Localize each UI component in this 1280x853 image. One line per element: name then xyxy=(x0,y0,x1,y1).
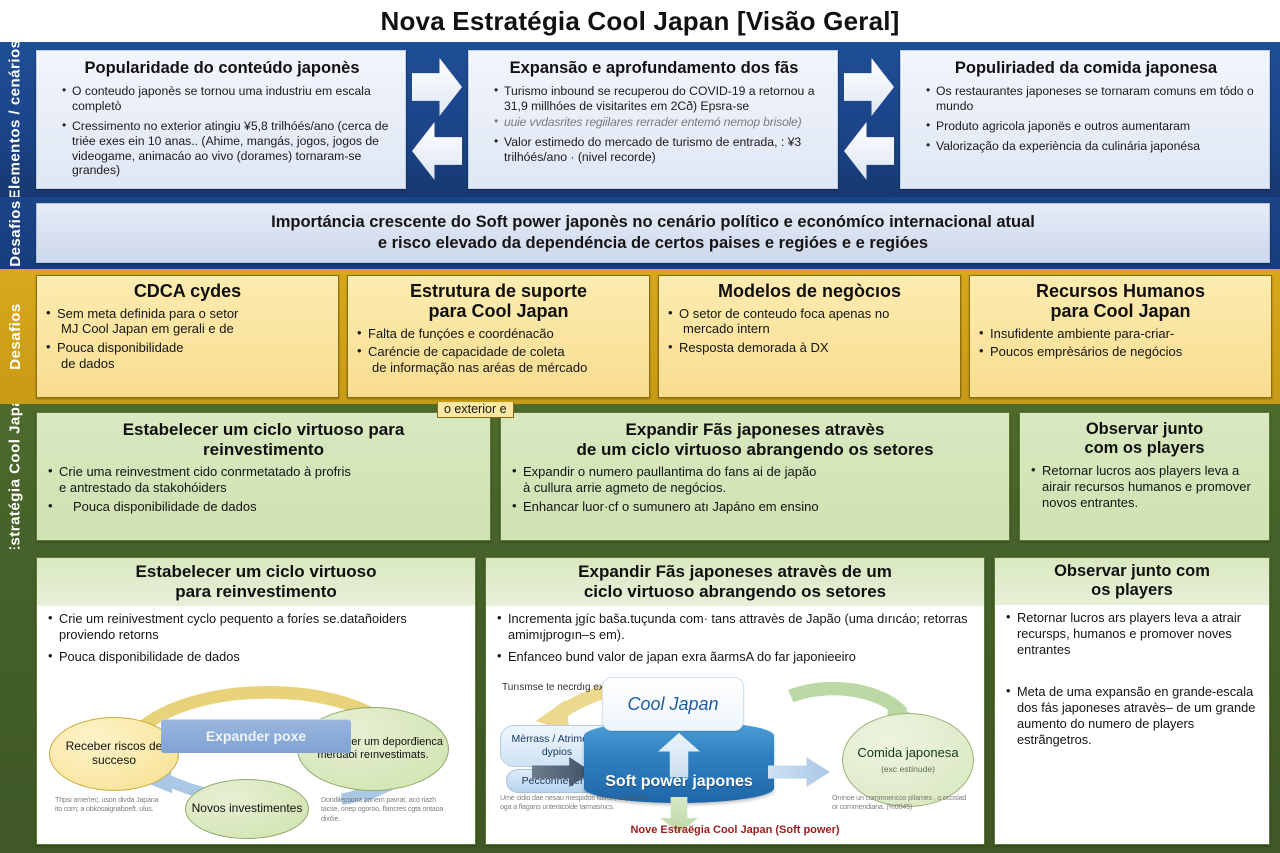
micro-note-right: Onınoe un commnencos pílames , o ocoslad… xyxy=(832,793,972,812)
list-item: Valor estimedo do mercado de turismo de … xyxy=(495,135,827,165)
panel-heading: Expandir Fãs japoneses atravès de um cic… xyxy=(486,558,984,606)
list-item: Resposta demorada à DX xyxy=(667,340,952,356)
list-item: Crie uma reinvestment cido conrmetatado … xyxy=(47,464,480,496)
cycle-node-left: Receber riscos de succeso xyxy=(49,717,179,791)
micro-note-left: Umė cidio dae nesau mespidos flavon, oap… xyxy=(500,793,650,812)
card-fan-expansion[interactable]: Expansão e aprofundamento dos fãs Turism… xyxy=(468,50,838,189)
card-observe-players[interactable]: Observar junto com os players Retornar l… xyxy=(1019,412,1270,541)
card-heading: Recursos Humanos para Cool Japan xyxy=(978,282,1263,322)
card-virtuous-cycle[interactable]: Estabelecer um ciclo virtuoso para reinv… xyxy=(36,412,491,541)
list-item: Caréncie de capacidade de coleta de info… xyxy=(356,344,641,375)
card-bullet-list: Falta de funçóes e coordénacão Caréncie … xyxy=(356,326,641,376)
page-title: Nova Estratégia Cool Japan [Visão Geral] xyxy=(380,6,899,37)
card-human-resources[interactable]: Recursos Humanos para Cool Japan Insufid… xyxy=(969,275,1272,398)
panel-heading-line-1: Observar junto com xyxy=(1054,562,1210,580)
spine-text-strategy: Reinvestir/Estratégia Cool Japan Strateg… xyxy=(7,404,24,549)
card-bullet-list: Expandir o numero paullantima do fans ai… xyxy=(511,464,999,515)
panel-heading-line-1: Estabelecer um ciclo virtuoso xyxy=(136,562,377,581)
micro-note-left: Thpsi ame/rec, uson divda Japana ito com… xyxy=(55,795,165,814)
diagram-soft-power: Turısmse te necrdıg extenno Mèrrass / At… xyxy=(492,673,978,838)
card-heading-line-2: reinvestimento xyxy=(203,440,324,459)
title-bar: Nova Estratégia Cool Japan [Visão Geral] xyxy=(0,0,1280,42)
list-item: Retornar lucros ars players leva a atrai… xyxy=(1005,610,1259,658)
card-bullet-list: Insufidente ambiente para-criar- Poucos … xyxy=(978,326,1263,360)
panel-observe-players[interactable]: Observar junto com os players Retornar l… xyxy=(994,557,1270,845)
list-item: Enhancar luor·cf o sumunero atı Japáno e… xyxy=(511,499,999,515)
diagram-reinvestment-cycle: Receber riscos de succeso Estabelecer um… xyxy=(43,673,469,838)
panel-body: Crie um reinivestment cyclo pequento a f… xyxy=(37,606,475,671)
list-item: Turismo inbound se recuperou do COVID-19… xyxy=(495,84,827,114)
panel-heading: Estabelecer um ciclo virtuoso para reinv… xyxy=(37,558,475,606)
card-heading: Estrutura de suporte para Cool Japan xyxy=(356,282,641,322)
statement-box: Importáncia crescente do Soft power japo… xyxy=(36,203,1270,263)
card-bullet-list: Turismo inbound se recuperou do COVID-19… xyxy=(481,84,827,164)
list-item-cont: de informação nas aréas de mércado xyxy=(368,360,641,376)
card-heading-line-2: de um ciclo virtuoso abrangendo os setor… xyxy=(576,440,933,459)
list-item: Insufidente ambiente para-criar- xyxy=(978,326,1263,342)
list-item: Meta de uma expansão en grande-escala do… xyxy=(1005,684,1259,748)
spine-label-strategy: Reinvestir/Estratégia Cool Japan Strateg… xyxy=(0,404,30,549)
card-bullet-list: O conteudo japonès se tornou uma industr… xyxy=(49,84,395,178)
list-item: O setor de conteudo foca apenas no merca… xyxy=(667,306,952,337)
band-elements: Elementos / cenários Popularidade do con… xyxy=(0,42,1280,197)
card-expand-fans[interactable]: Expandir Fãs japoneses atravès de um cic… xyxy=(500,412,1010,541)
list-item: Crie um reinivestment cyclo pequento a f… xyxy=(47,611,465,643)
list-item: Produto agricola japonës e outros aument… xyxy=(927,119,1259,134)
panel-body: Retornar lucros ars players leva a atrai… xyxy=(995,605,1269,754)
spine-label-challenges-top: Desafios xyxy=(0,197,30,269)
list-item: O conteudo japonès se tornou uma industr… xyxy=(63,84,395,114)
cycle-ribbon-label: Expander poxe xyxy=(161,719,351,753)
card-heading-line-1: Estabelecer um ciclo virtuoso para xyxy=(123,420,405,439)
card-heading: Modelos de negòcıos xyxy=(667,282,952,302)
card-heading-line-2: com os players xyxy=(1084,439,1204,457)
card-heading-line-2: para Cool Japan xyxy=(1050,301,1190,321)
slide-root: Nova Estratégia Cool Japan [Visão Geral]… xyxy=(0,0,1280,853)
list-item-blurred: uuie vvdasrites regiilares rerrader ente… xyxy=(495,115,827,130)
panel-virtuous-cycle[interactable]: Estabelecer um ciclo virtuoso para reinv… xyxy=(36,557,476,845)
statement-line-1: Importáncia crescente do Soft power japo… xyxy=(271,212,1035,233)
list-item: Sem meta definida para o setor MJ Cool J… xyxy=(45,306,330,337)
diagram-caption: Nove Estraëgia Cool Japan (Soft power) xyxy=(492,824,978,836)
card-support-structure[interactable]: Estrutura de suporte para Cool Japan Fal… xyxy=(347,275,650,398)
panel-bullet-list: Crie um reinivestment cyclo pequento a f… xyxy=(47,611,465,665)
list-item-text: Caréncie de capacidade de coleta xyxy=(368,344,565,359)
arrow-group-2 xyxy=(838,50,900,189)
band-strategy: Reinvestir/Estratégia Cool Japan Strateg… xyxy=(0,404,1280,549)
card-bullet-list: Crie uma reinvestment cido conrmetatado … xyxy=(47,464,480,515)
card-heading: Estabelecer um ciclo virtuoso para reinv… xyxy=(47,420,480,459)
list-item-cont: mercado intern xyxy=(679,321,952,337)
cycle-node-bottom: Novos investimentes xyxy=(185,779,309,839)
list-item-cont: e antrestado da stakohóiders xyxy=(59,480,480,496)
food-subtitle: (exc estínude) xyxy=(881,764,935,775)
statement-line-2: e risco elevado da dependéncia de certos… xyxy=(378,233,928,254)
card-bullet-list: O setor de conteudo foca apenas no merca… xyxy=(667,306,952,356)
list-item: Incrementa jgíc baša.tuçunda com· tans a… xyxy=(496,611,974,643)
card-heading-line-1: Observar junto xyxy=(1086,420,1203,438)
card-bullet-list: Retornar lucros aos players leva a airai… xyxy=(1030,463,1259,511)
arrow-right-icon xyxy=(844,58,894,116)
arrow-right-icon xyxy=(412,58,462,116)
card-heading: Expansão e aprofundamento dos fãs xyxy=(481,59,827,78)
list-item: Retornar lucros aos players leva a airai… xyxy=(1030,463,1259,511)
list-item: Expandir o numero paullantima do fans ai… xyxy=(511,464,999,496)
arrow-blue-right-icon xyxy=(768,757,830,787)
spine-text-elements: Elementos / cenários xyxy=(7,42,24,197)
card-japanese-food[interactable]: Populiriaded da comida japonesa Os resta… xyxy=(900,50,1270,189)
list-item-cont: à cullura arrie agmeto de negócios. xyxy=(523,480,999,496)
list-item-text: Sem meta definida para o setor xyxy=(57,306,238,321)
food-title: Comida japonesa xyxy=(857,745,958,761)
list-item: Pouca disponibilidade de dados xyxy=(47,499,480,515)
list-item-text: O setor de conteudo foca apenas no xyxy=(679,306,889,321)
card-heading: Expandir Fãs japoneses atravès de um cic… xyxy=(511,420,999,459)
list-item-text: Crie uma reinvestment cido conrmetatado … xyxy=(59,464,351,479)
panel-heading-line-2: ciclo virtuoso abrangendo os setores xyxy=(584,582,886,601)
list-item-cont: MJ Cool Japan em gerali e de xyxy=(57,321,330,337)
list-item: Os restaurantes japoneses se tornaram co… xyxy=(927,84,1259,114)
list-item: Pouca disponibilidade de dados xyxy=(47,649,465,665)
arrow-group-1 xyxy=(406,50,468,189)
card-heading: Populiriaded da comida japonesa xyxy=(913,59,1259,78)
arrow-left-icon xyxy=(844,122,894,180)
card-heading: Popularidade do conteúdo japonès xyxy=(49,59,395,78)
list-item: Poucos emprèsários de negócios xyxy=(978,344,1263,360)
list-item: Falta de funçóes e coordénacão xyxy=(356,326,641,342)
cool-japan-badge: Cool Japan xyxy=(602,677,744,731)
list-item-text: Expandir o numero paullantima do fans ai… xyxy=(523,464,816,479)
card-bullet-list: Os restaurantes japoneses se tornaram co… xyxy=(913,84,1259,154)
band-challenges: Desafios CDCA cydes Sem meta definida pa… xyxy=(0,269,1280,404)
spine-text-challenges: Desafios xyxy=(7,303,24,370)
list-item: Pouca disponibilidade de dados xyxy=(45,340,330,371)
card-content-popularity[interactable]: Popularidade do conteúdo japonès O conte… xyxy=(36,50,406,189)
card-cdca-cycles[interactable]: CDCA cydes Sem meta definida para o seto… xyxy=(36,275,339,398)
panel-heading: Observar junto com os players xyxy=(995,558,1269,605)
panel-heading-line-2: os players xyxy=(1091,581,1173,599)
overflow-note: o exterior e xyxy=(437,402,514,418)
list-item: Valorização da experiència da culinária … xyxy=(927,139,1259,154)
card-bullet-list: Sem meta definida para o setor MJ Cool J… xyxy=(45,306,330,371)
card-heading-line-2: para Cool Japan xyxy=(428,301,568,321)
list-item: Enfanceo bund valor de japan exra ãarmsA… xyxy=(496,649,974,665)
list-item: Cressimento no exterior atingiu ¥5,8 tri… xyxy=(63,119,395,179)
card-business-models[interactable]: Modelos de negòcıos O setor de conteudo … xyxy=(658,275,961,398)
spine-text-challenges-top: Desafios xyxy=(7,200,24,267)
panel-bullet-list: Retornar lucros ars players leva a atrai… xyxy=(1005,610,1259,748)
band-detail-panels: Estabelecer um ciclo virtuoso para reinv… xyxy=(0,549,1280,853)
card-heading-line-1: Expandir Fãs japoneses atravès xyxy=(626,420,885,439)
arrow-left-icon xyxy=(412,122,462,180)
panel-heading-line-2: para reinvestimento xyxy=(175,582,337,601)
card-heading: CDCA cydes xyxy=(45,282,330,302)
list-item-text: Pouca disponibilidade xyxy=(57,340,183,355)
band-statement: Desafios Importáncia crescente do Soft p… xyxy=(0,197,1280,269)
micro-note-right: Dondilecsona conem pavrat, acó riazh tac… xyxy=(321,795,451,823)
panel-expand-fans[interactable]: Expandir Fãs japoneses atravès de um cic… xyxy=(485,557,985,845)
panel-body: Incrementa jgíc baša.tuçunda com· tans a… xyxy=(486,606,984,671)
panel-bullet-list: Incrementa jgíc baša.tuçunda com· tans a… xyxy=(496,611,974,665)
card-heading-line-1: Recursos Humanos xyxy=(1036,281,1205,301)
spine-label-elements: Elementos / cenários xyxy=(0,42,30,197)
card-heading-line-1: Estrutura de suporte xyxy=(410,281,587,301)
list-item-cont: de dados xyxy=(57,356,330,372)
spine-label-challenges: Desafios xyxy=(0,269,30,404)
panel-heading-line-1: Expandir Fãs japoneses atravès de um xyxy=(578,562,892,581)
card-heading: Observar junto com os players xyxy=(1030,420,1259,458)
